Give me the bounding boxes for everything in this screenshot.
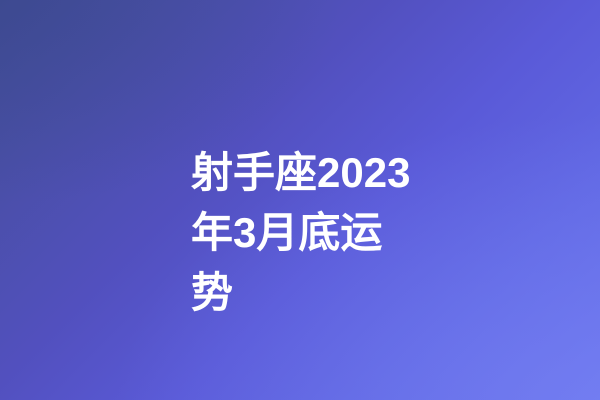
page-title: 射手座2023年3月底运势 xyxy=(191,143,423,323)
title-card: 射手座2023年3月底运势 xyxy=(0,0,600,400)
